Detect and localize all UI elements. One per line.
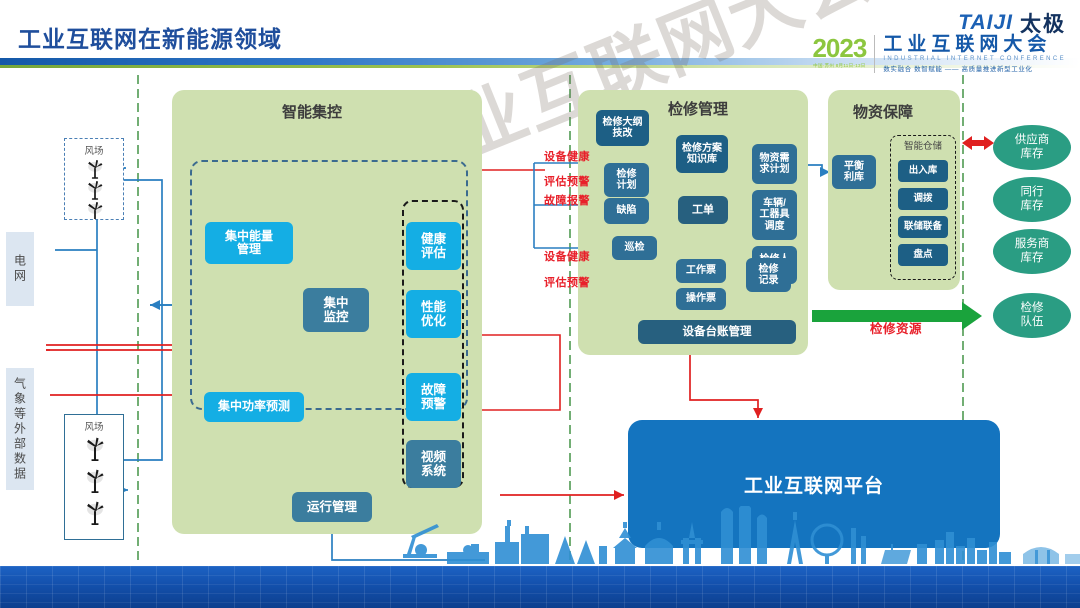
node-transfer[interactable]: 调拨 (898, 188, 948, 210)
wind-turbine-icon (65, 431, 125, 539)
maintenance-red-label-4: 设备健康 (544, 248, 590, 264)
node-maintenance-outline[interactable]: 检修大纲 技改 (596, 110, 649, 146)
node-maintenance-knowledge-base[interactable]: 检修方案 知识库 (676, 135, 728, 173)
node-operation-ticket[interactable]: 操作票 (676, 288, 726, 310)
footer-grid-pattern (0, 566, 1080, 608)
smart-warehouse-title: 智能仓储 (890, 138, 956, 152)
label-power-grid: 电网 (6, 232, 34, 306)
node-balance-stock[interactable]: 平衡 利库 (832, 155, 876, 189)
label-external-data: 气象等外部数据 (6, 368, 34, 490)
node-stocktake[interactable]: 盘点 (898, 244, 948, 266)
maintenance-red-label-1: 设备健康 (544, 148, 590, 164)
node-work-ticket[interactable]: 工作票 (676, 259, 726, 283)
wind-farm-bottom: 风场 (64, 414, 124, 540)
node-health-assessment[interactable]: 健康 评估 (406, 222, 461, 270)
maintenance-red-label-3: 故障报警 (544, 192, 590, 208)
slide-canvas: 工业互联网在新能源领域 TAIJI 太极 2023 中国·苏州 8月11日-13… (0, 0, 1080, 608)
node-defect[interactable]: 缺陷 (604, 198, 649, 224)
node-maintenance-plan[interactable]: 检修 计划 (604, 163, 649, 197)
node-fault-warning[interactable]: 故障 预警 (406, 373, 461, 421)
node-inbound-outbound[interactable]: 出入库 (898, 160, 948, 182)
node-work-order[interactable]: 工单 (678, 196, 728, 224)
maintenance-red-label-2: 评估预警 (544, 173, 590, 189)
city-skyline-graphic (395, 506, 1080, 568)
node-vehicle-tool-dispatch[interactable]: 车辆/ 工器具 调度 (752, 190, 797, 240)
panel-maintenance-management-title: 检修管理 (668, 98, 728, 119)
node-performance-optimization[interactable]: 性能 优化 (406, 290, 461, 338)
panel-material-assurance-title: 物资保障 (853, 101, 913, 122)
maintenance-resource-label: 检修资源 (870, 318, 922, 337)
entity-peer-inventory[interactable]: 同行 库存 (993, 177, 1071, 222)
supplier-exchange-arrow (962, 136, 994, 150)
entity-service-provider-inventory[interactable]: 服务商 库存 (993, 229, 1071, 274)
node-material-requirement-plan[interactable]: 物资需 求计划 (752, 144, 797, 184)
node-centralized-energy-management[interactable]: 集中能量 管理 (205, 222, 293, 264)
wind-turbine-icon (65, 155, 125, 219)
maintenance-red-label-5: 评估预警 (544, 274, 590, 290)
entity-supplier-inventory[interactable]: 供应商 库存 (993, 125, 1071, 170)
node-operation-management[interactable]: 运行管理 (292, 492, 372, 522)
node-patrol[interactable]: 巡检 (612, 236, 657, 260)
node-centralized-power-forecast[interactable]: 集中功率预测 (204, 392, 304, 422)
wind-farm-top: 风场 (64, 138, 124, 220)
entity-maintenance-team[interactable]: 检修 队伍 (993, 293, 1071, 338)
node-video-system[interactable]: 视频 系统 (406, 440, 461, 488)
node-equipment-ledger-management[interactable]: 设备台账管理 (638, 320, 796, 344)
panel-intelligent-control-title: 智能集控 (282, 101, 342, 122)
node-maintenance-record[interactable]: 检修 记录 (746, 258, 791, 292)
node-joint-storage[interactable]: 联储联备 (898, 216, 948, 238)
node-centralized-monitoring[interactable]: 集中 监控 (303, 288, 369, 332)
